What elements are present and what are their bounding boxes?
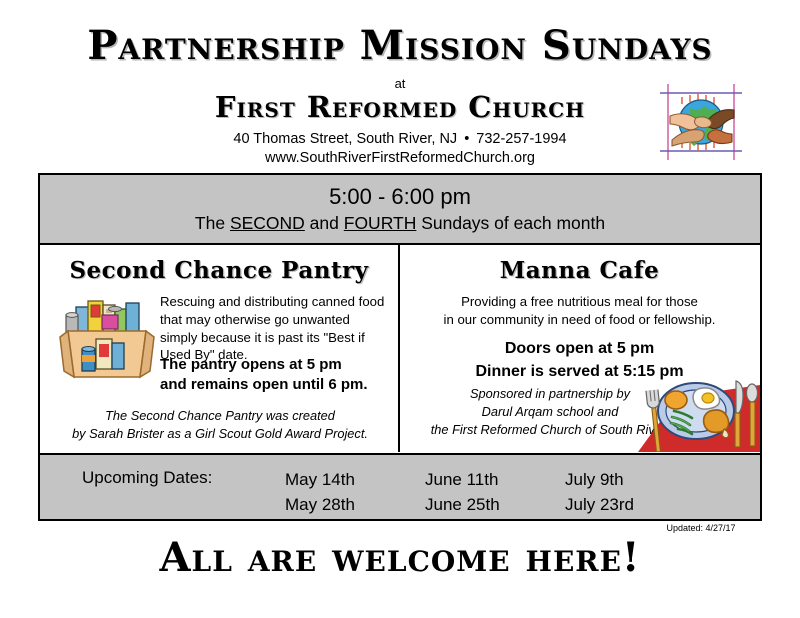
time-range: 5:00 - 6:00 pm [40, 184, 760, 210]
dates-column-1: May 14th May 28th [285, 468, 355, 517]
cafe-title: Manna Cafe [400, 257, 759, 284]
date-item: June 25th [425, 493, 500, 518]
cafe-hours-line-1: Doors open at 5 pm [410, 337, 749, 360]
dinner-plate-icon [638, 367, 760, 452]
pantry-hours-line-1: The pantry opens at 5 pm [160, 355, 395, 375]
upcoming-dates-strip: Upcoming Dates: May 14th May 28th June 1… [40, 453, 760, 519]
schedule-line: The SECOND and FOURTH Sundays of each mo… [40, 213, 760, 234]
dates-column-3: July 9th July 23rd [565, 468, 634, 517]
pantry-description: Rescuing and distributing canned food th… [160, 293, 388, 364]
pantry-title: Second Chance Pantry [40, 257, 398, 284]
date-item: July 9th [565, 468, 634, 493]
schedule-prefix: The [195, 213, 230, 233]
pantry-hours: The pantry opens at 5 pm and remains ope… [160, 355, 395, 396]
cafe-description-line-1: Providing a free nutritious meal for tho… [410, 293, 749, 311]
programs-columns: Second Chance Pantry [40, 245, 760, 452]
cafe-description-line-2: in our community in need of food or fell… [410, 311, 749, 329]
pantry-credit-line-2: by Sarah Brister as a Girl Scout Gold Aw… [52, 425, 388, 443]
pantry-credit-line-1: The Second Chance Pantry was created [52, 407, 388, 425]
address-separator: • [457, 131, 476, 147]
updated-stamp: Updated: 4/27/17 [640, 523, 762, 533]
cafe-description: Providing a free nutritious meal for tho… [410, 293, 749, 330]
date-item: May 28th [285, 493, 355, 518]
schedule-middle: and [305, 213, 344, 233]
phone-number: 732-257-1994 [476, 131, 566, 147]
schedule-suffix: Sundays of each month [416, 213, 605, 233]
date-item: May 14th [285, 468, 355, 493]
pantry-credit: The Second Chance Pantry was created by … [52, 407, 388, 443]
canned-food-box-icon [58, 293, 156, 383]
footer-welcome-text: All are welcome here! [0, 538, 800, 578]
date-item: July 23rd [565, 493, 634, 518]
schedule-week-fourth: FOURTH [344, 213, 417, 233]
date-item: June 11th [425, 468, 500, 493]
schedule-week-second: SECOND [230, 213, 305, 233]
pantry-hours-line-2: and remains open until 6 pm. [160, 375, 395, 395]
pantry-column: Second Chance Pantry [40, 245, 400, 452]
cafe-column: Manna Cafe Providing a free nutritious m… [400, 245, 759, 452]
time-banner: 5:00 - 6:00 pm The SECOND and FOURTH Sun… [40, 175, 760, 245]
dates-column-2: June 11th June 25th [425, 468, 500, 517]
page-title: Partnership Mission Sundays [0, 26, 800, 66]
main-info-box: 5:00 - 6:00 pm The SECOND and FOURTH Sun… [38, 173, 762, 521]
flyer-header: Partnership Mission Sundays at First Ref… [0, 0, 800, 170]
street-address: 40 Thomas Street, South River, NJ [233, 131, 457, 147]
upcoming-dates-label: Upcoming Dates: [82, 468, 212, 488]
hands-around-globe-icon [656, 82, 746, 162]
